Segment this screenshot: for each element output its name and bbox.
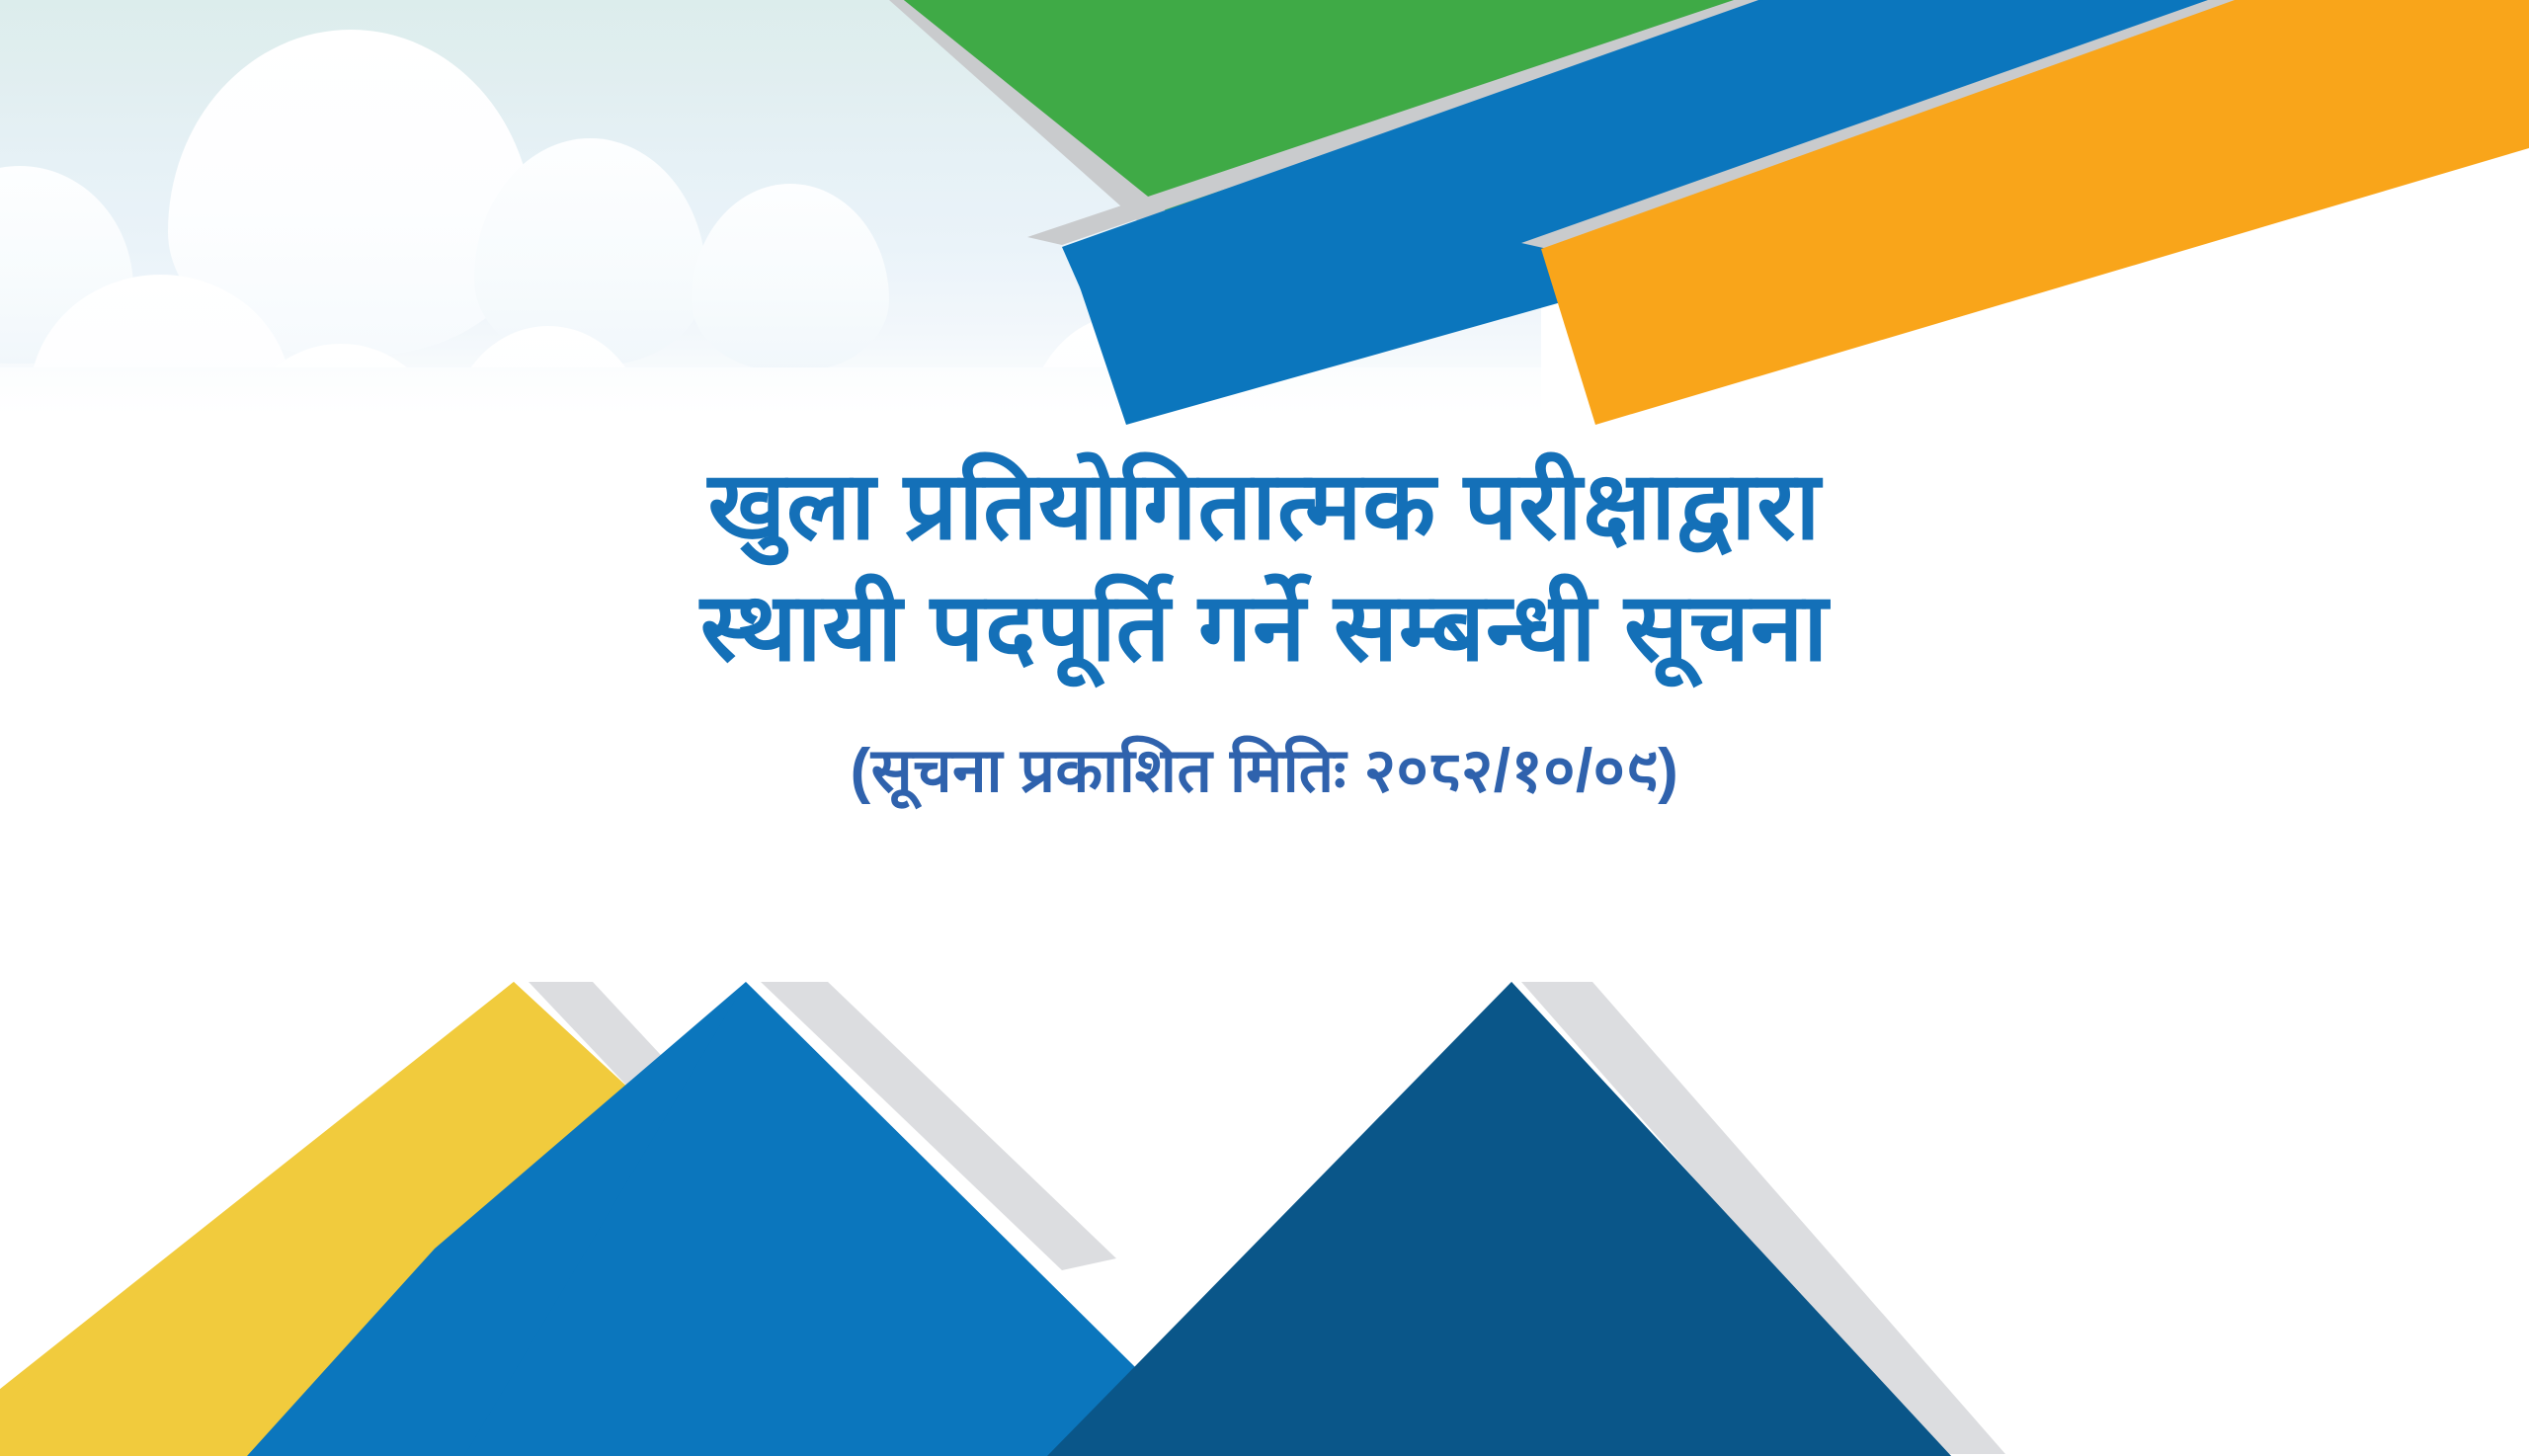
published-date-note: (सूचना प्रकाशित मितिः २०८२/१०/०९) <box>0 735 2529 808</box>
top-right-ribbons <box>0 0 2529 474</box>
page-title-line-2: स्थायी पदपूर्ति गर्ने सम्बन्धी सूचना <box>0 568 2529 689</box>
bottom-mountains <box>0 982 2529 1456</box>
page-title-line-1: खुला प्रतियोगितात्मक परीक्षाद्वारा <box>0 446 2529 568</box>
poster-text-block: खुला प्रतियोगितात्मक परीक्षाद्वारा स्थाय… <box>0 446 2529 808</box>
notice-poster: खुला प्रतियोगितात्मक परीक्षाद्वारा स्थाय… <box>0 0 2529 1456</box>
navy-peak-shade <box>1511 982 1951 1456</box>
